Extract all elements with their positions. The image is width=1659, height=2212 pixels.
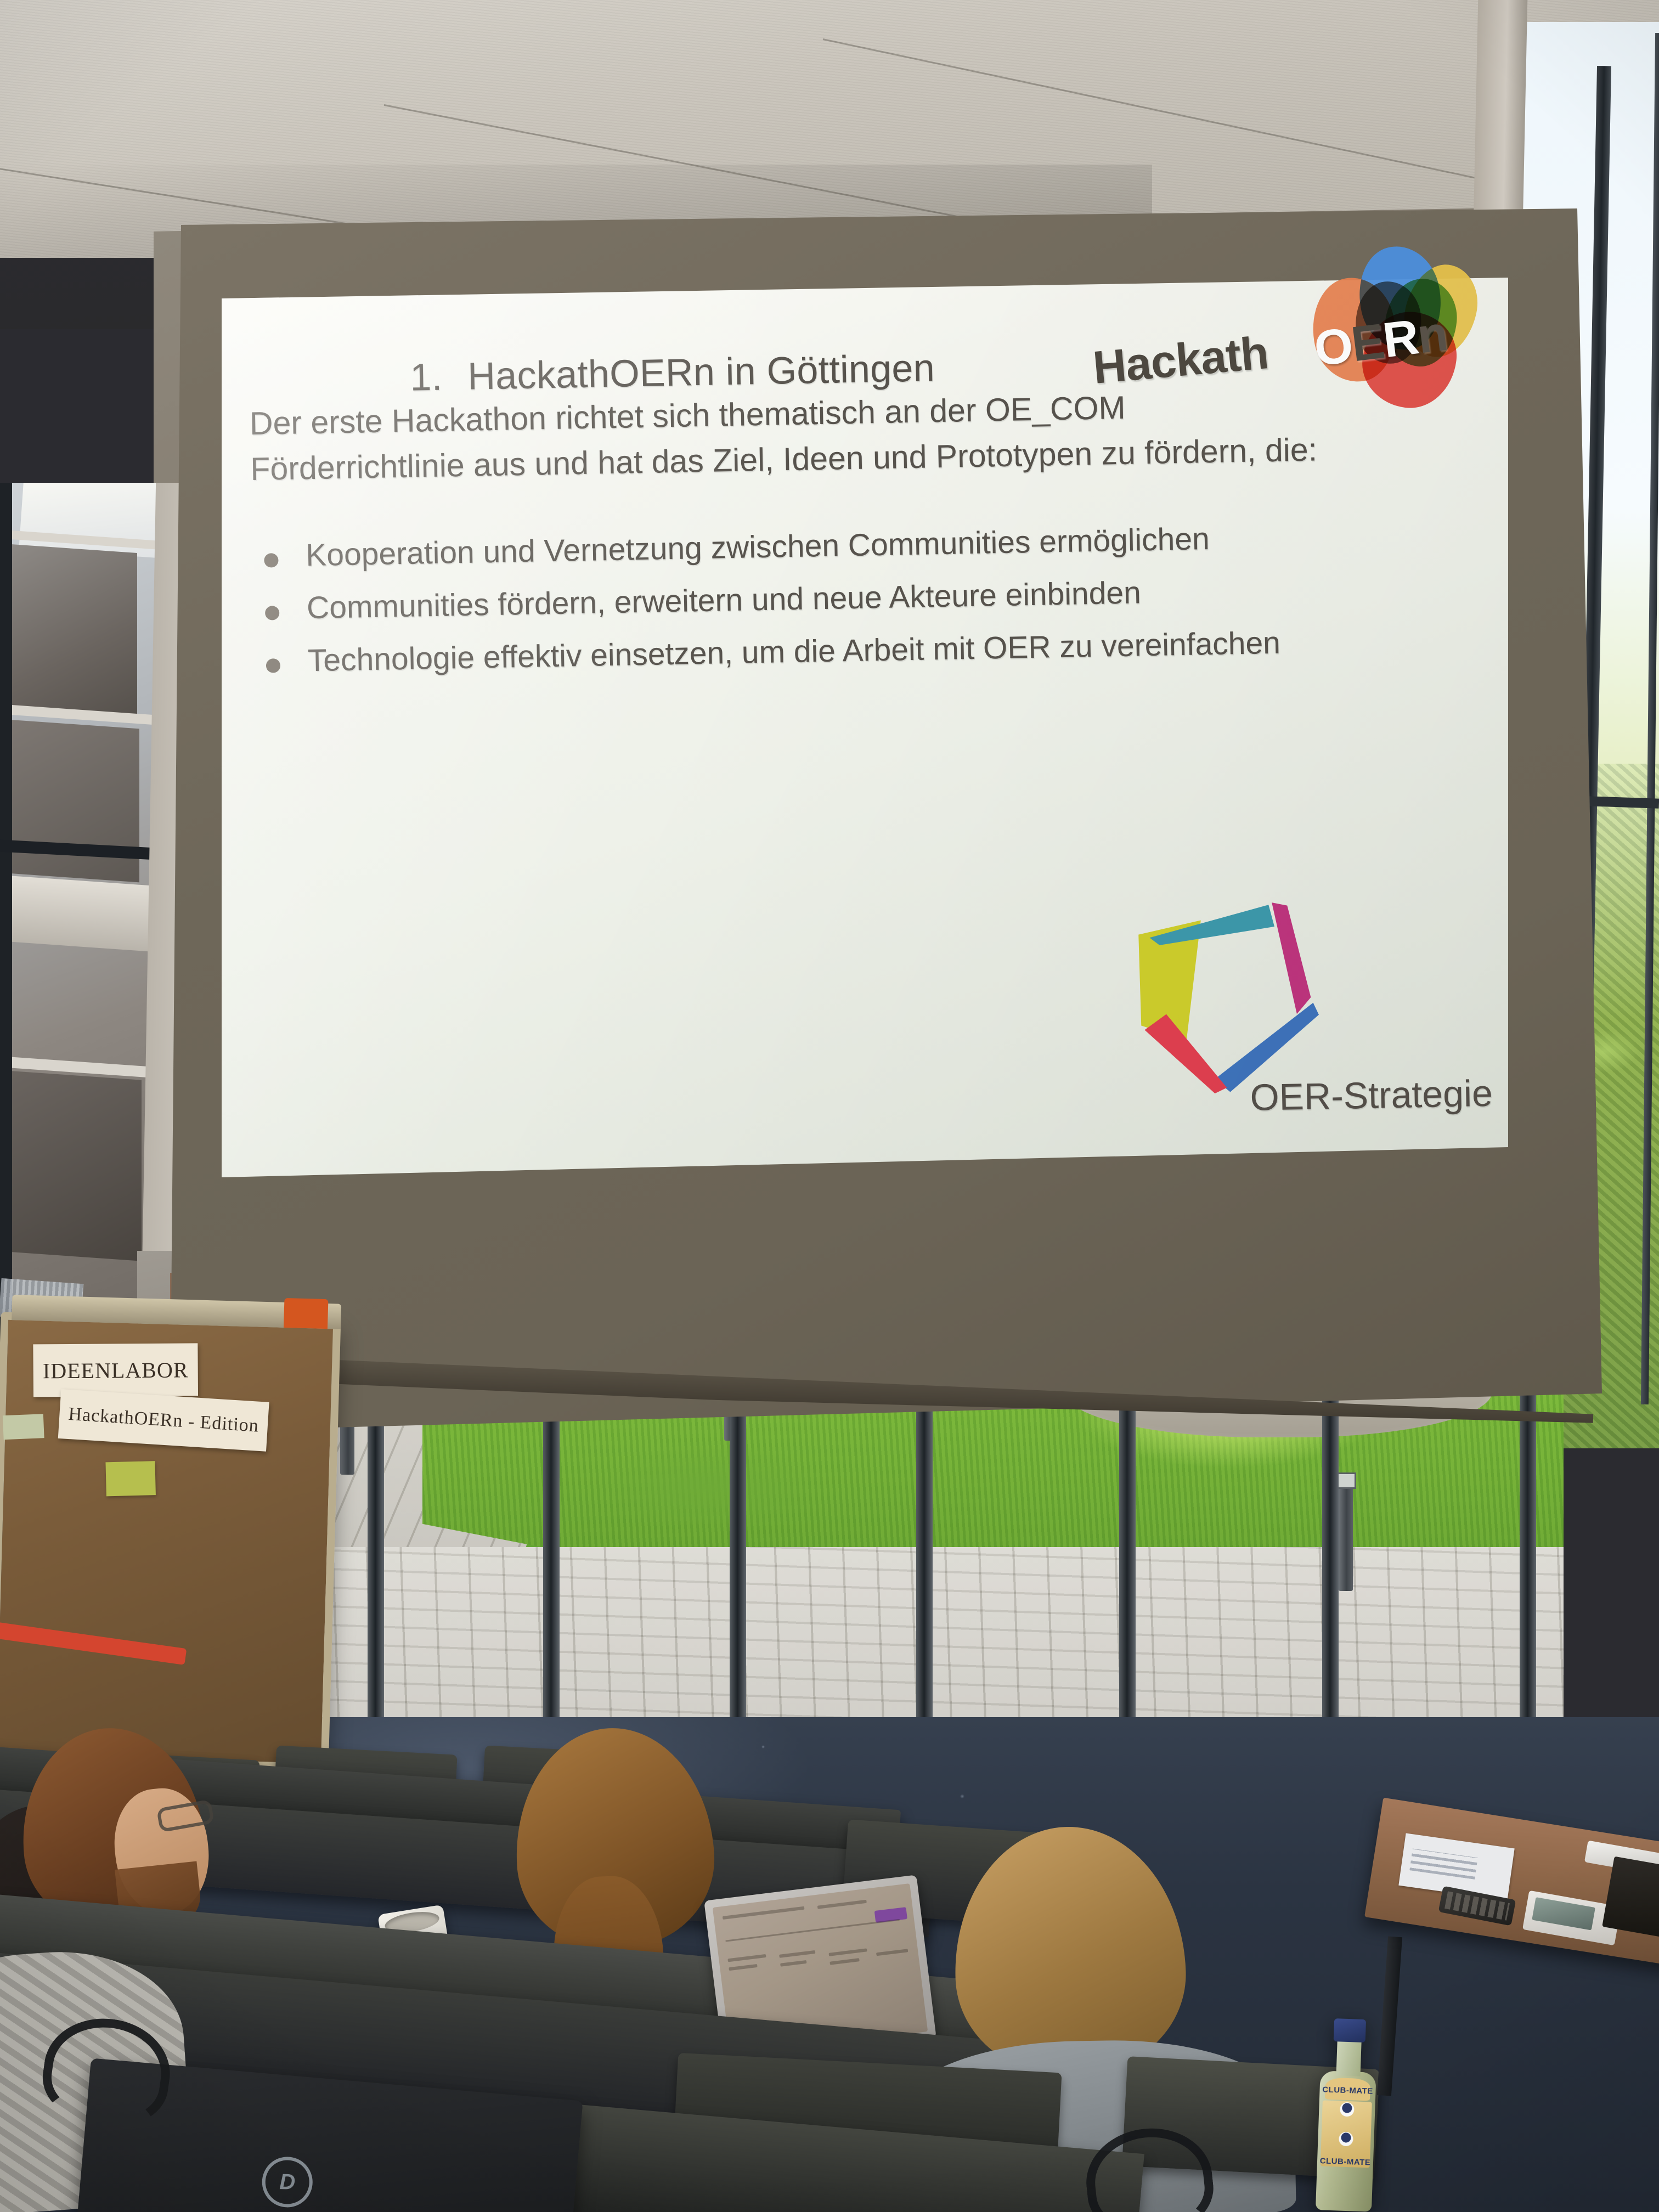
pentagon-segment-magenta [1272, 902, 1311, 1014]
ceiling-seam [823, 38, 1575, 200]
pinboard-clip [284, 1298, 328, 1329]
atrium-mullion [0, 483, 12, 1339]
oer-strategie-label: OER-Strategie [1250, 1072, 1493, 1119]
pinboard-tag [3, 1414, 44, 1440]
projection-screen: OERn Hackath 1.HackathOERn in Göttingen … [165, 208, 1602, 1432]
slide-title-number: 1. [410, 356, 443, 399]
atrium-pane [4, 1070, 142, 1261]
dell-logo-icon: D [262, 2157, 313, 2208]
bottle-cap [1334, 2018, 1366, 2042]
pinboard-sign-ideenlabor: IDEENLABOR [33, 1343, 198, 1397]
pinboard-sign-hackathoern-edition: HackathOERn - Edition [58, 1389, 269, 1452]
bollard-light [1339, 1487, 1353, 1591]
pinboard: IDEENLABOR HackathOERn - Edition [0, 1312, 341, 1771]
lecture-hall-photo: OERn Hackath 1.HackathOERn in Göttingen … [0, 0, 1659, 2212]
oer-strategie-pentagon [1130, 873, 1342, 1096]
presentation-slide: OERn Hackath 1.HackathOERn in Göttingen … [222, 254, 1525, 1177]
atrium-spandrel [0, 875, 172, 952]
oer-strategie-logo: OER-Strategie [1130, 870, 1475, 1134]
logo-letter-o: O [1311, 318, 1355, 377]
atrium-pane [11, 544, 137, 718]
slide-bullet-list: Kooperation und Vernetzung zwischen Comm… [252, 512, 1511, 692]
club-mate-bottle: CLUB-MATE CLUB-MATE [1313, 2018, 1380, 2212]
bottle-neck [1336, 2039, 1361, 2076]
sticky-note [105, 1461, 155, 1496]
pentagon-segment-teal [1149, 905, 1274, 945]
